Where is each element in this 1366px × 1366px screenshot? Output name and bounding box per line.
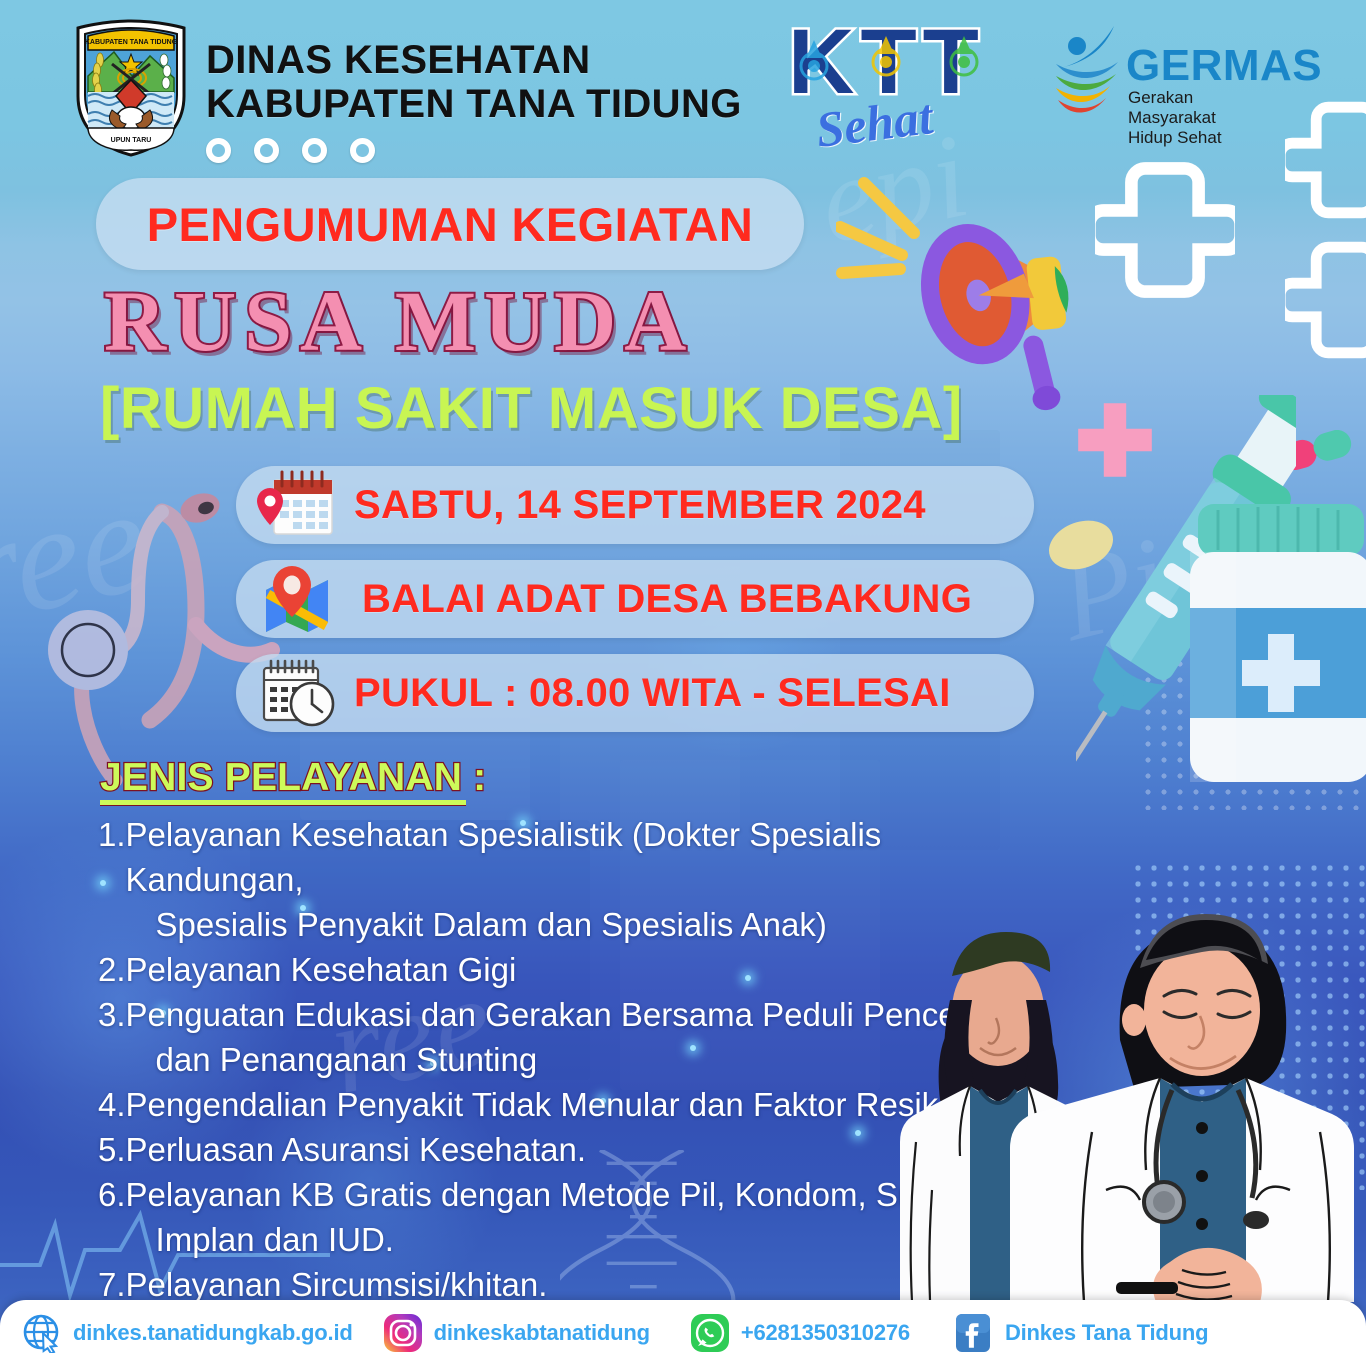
services-heading-underline <box>100 800 466 805</box>
footer-website[interactable]: dinkes.tanatidungkab.go.id <box>22 1313 353 1353</box>
medical-cross-icon <box>1095 160 1235 300</box>
globe-cursor-icon <box>22 1313 62 1353</box>
list-item-line-1: Perluasan Asuransi Kesehatan. <box>126 1131 586 1168</box>
program-title: RUSA MUDA <box>104 276 1064 366</box>
list-item-number: 6. <box>98 1172 126 1217</box>
footer-whatsapp[interactable]: +6281350310276 <box>690 1313 910 1353</box>
list-item-number: 1. <box>98 812 126 857</box>
list-item-line-1: Pelayanan Sircumsisi/khitan. <box>126 1266 548 1303</box>
svg-text:UPUN TARU: UPUN TARU <box>111 137 152 144</box>
page-title: DINAS KESEHATAN KABUPATEN TANA TIDUNG <box>206 38 742 126</box>
detail-date-pill: SABTU, 14 SEPTEMBER 2024 <box>236 466 1034 544</box>
footer-whatsapp-label: +6281350310276 <box>741 1320 910 1346</box>
detail-time-pill: PUKUL : 08.00 WITA - SELESAI <box>236 654 1034 732</box>
dot-4 <box>350 138 375 163</box>
footer-website-label: dinkes.tanatidungkab.go.id <box>73 1320 353 1346</box>
calendar-pin-icon <box>252 470 344 540</box>
map-location-pin-icon <box>252 564 344 634</box>
list-item-number: 5. <box>98 1127 126 1172</box>
crest-icon: KABUPATEN TANA TIDUNG <box>72 18 190 158</box>
germas-tagline-line-1: Gerakan Masyarakat <box>1128 88 1282 128</box>
footer-instagram[interactable]: dinkeskabtanatidung <box>383 1313 650 1353</box>
germas-wordmark: GERMAS <box>1126 44 1322 88</box>
list-item-line-1: Pelayanan Kesehatan Gigi <box>126 951 517 988</box>
list-item-number: 4. <box>98 1082 126 1127</box>
program-subtitle: [RUMAH SAKIT MASUK DESA] <box>100 378 1080 440</box>
services-heading: JENIS PELAYANAN : <box>100 756 486 800</box>
list-item-number: 3. <box>98 992 126 1037</box>
poster-root: ree epi Pi ree <box>0 0 1366 1366</box>
decorative-dots <box>206 138 375 163</box>
medicine-bottle-3d-icon <box>1180 500 1366 790</box>
detail-location-pill: BALAI ADAT DESA BEBAKUNG <box>236 560 1034 638</box>
instagram-icon <box>383 1313 423 1353</box>
medical-cross-icon <box>1285 240 1366 360</box>
list-item-line-1: Pelayanan Kesehatan Spesialistik (Dokter… <box>126 816 882 898</box>
svg-text:KABUPATEN TANA TIDUNG: KABUPATEN TANA TIDUNG <box>85 39 178 46</box>
germas-logo: GERMAS Gerakan Masyarakat Hidup Sehat <box>1052 24 1282 128</box>
program-title-text: RUSA MUDA <box>104 273 694 369</box>
header: KABUPATEN TANA TIDUNG <box>0 0 1366 168</box>
calendar-clock-icon <box>252 658 344 728</box>
list-item-body: Pelayanan Kesehatan Gigi <box>126 947 517 992</box>
germas-tagline: Gerakan Masyarakat Hidup Sehat <box>1128 88 1282 148</box>
announcement-banner-label: PENGUMUMAN KEGIATAN <box>147 197 753 252</box>
ktt-letter-k: K <box>788 16 854 108</box>
dot-2 <box>254 138 279 163</box>
ktt-sehat-logo: K T T Sehat <box>788 16 1028 156</box>
germas-figure-icon <box>1052 24 1126 124</box>
ktt-letter-t2: T <box>923 16 979 108</box>
program-subtitle-text: [RUMAH SAKIT MASUK DESA] <box>100 376 963 441</box>
dot-1 <box>206 138 231 163</box>
footer-facebook[interactable]: Dinkes Tana Tidung <box>954 1313 1208 1353</box>
footer-instagram-label: dinkeskabtanatidung <box>434 1320 650 1346</box>
announcement-banner: PENGUMUMAN KEGIATAN <box>96 178 804 270</box>
facebook-icon <box>954 1313 994 1353</box>
detail-date-label: SABTU, 14 SEPTEMBER 2024 <box>354 483 926 528</box>
footer-facebook-label: Dinkes Tana Tidung <box>1005 1320 1208 1346</box>
dot-3 <box>302 138 327 163</box>
two-doctors-illustration <box>820 890 1366 1302</box>
list-item-number: 2. <box>98 947 126 992</box>
detail-location-label: BALAI ADAT DESA BEBAKUNG <box>362 577 972 622</box>
org-line-2: KABUPATEN TANA TIDUNG <box>206 82 742 126</box>
footer-contact-bar: dinkes.tanatidungkab.go.id di <box>0 1300 1366 1366</box>
org-line-1: DINAS KESEHATAN <box>206 38 742 82</box>
list-item-body: Perluasan Asuransi Kesehatan. <box>126 1127 586 1172</box>
germas-tagline-line-2: Hidup Sehat <box>1128 128 1282 148</box>
whatsapp-icon <box>690 1313 730 1353</box>
detail-time-label: PUKUL : 08.00 WITA - SELESAI <box>354 671 951 716</box>
